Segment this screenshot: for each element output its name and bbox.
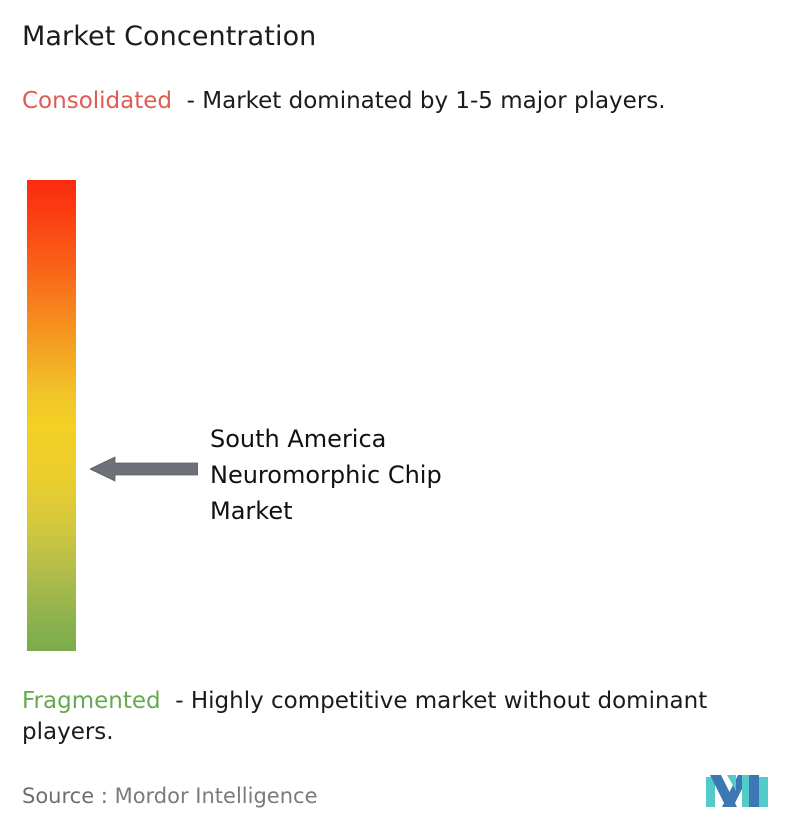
mordor-intelligence-logo [706,771,768,813]
market-position-label-line3: Market [210,493,540,529]
source-value: Mordor Intelligence [115,784,318,808]
legend-fragmented: Fragmented - Highly competitive market w… [22,686,784,748]
page-title: Market Concentration [22,20,316,54]
legend-consolidated-description: - Market dominated by 1-5 major players. [187,88,666,114]
market-position-arrow [90,455,198,483]
market-position-label: South America Neuromorphic Chip Market [210,421,540,529]
legend-consolidated: Consolidated - Market dominated by 1-5 m… [22,86,774,117]
legend-fragmented-term: Fragmented [22,688,161,714]
market-concentration-gradient-bar [27,180,76,651]
market-position-label-line2: Neuromorphic Chip [210,457,540,493]
left-arrow-icon [90,455,198,483]
mordor-intelligence-logo-icon [706,771,768,813]
market-position-label-line1: South America [210,421,540,457]
source-label: Source : [22,784,108,808]
source-attribution: Source : Mordor Intelligence [22,783,317,809]
legend-consolidated-term: Consolidated [22,88,172,114]
